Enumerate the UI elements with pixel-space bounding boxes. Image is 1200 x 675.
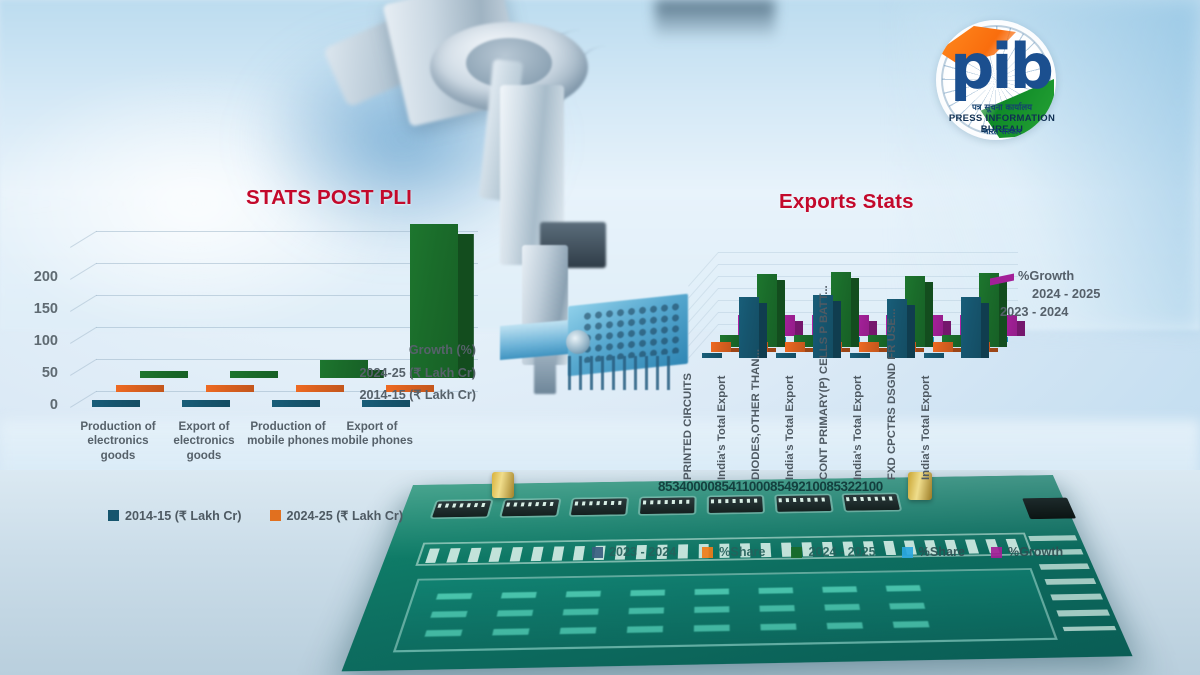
legend-label: %Share — [919, 545, 965, 559]
legend-swatch-growth-purple — [991, 547, 1002, 558]
hs-code: 85322100 — [826, 479, 882, 494]
y-axis-tick-label: 100 — [10, 333, 58, 349]
pib-government-line: भारत सरकार — [928, 126, 1076, 137]
left-chart-title: STATS POST PLI — [246, 186, 412, 210]
depth-axis-series-label: 2024 - 2025 — [1032, 286, 1100, 301]
bar--share-2 — [785, 348, 813, 353]
x-axis-category-label: India's Total Export — [852, 376, 864, 480]
depth-axis-series-label: 2014-15 (₹ Lakh Cr) — [340, 387, 476, 402]
x-axis-category-label: FXD CPCTRS DSGND FR USE... — [886, 308, 898, 480]
legend-label: %Growth — [1008, 545, 1063, 559]
legend-swatch-share-orange — [702, 547, 713, 558]
legend-item: %Share — [902, 545, 965, 559]
x-axis-category-label: Export of electronics goods — [162, 420, 246, 463]
depth-axis-series-label: %Growth — [1018, 268, 1074, 283]
y-axis-tick-label: 200 — [10, 269, 58, 285]
right-chart-title: Exports Stats — [779, 190, 914, 214]
legend-item: 2023 - 2024 — [592, 545, 676, 559]
legend-item: %Growth — [991, 545, 1063, 559]
hs-code: 85411000 — [714, 479, 770, 494]
hs-code: 85340000 — [658, 479, 714, 494]
legend-label: 2024-25 (₹ Lakh Cr) — [287, 508, 404, 523]
bar--share-0 — [711, 348, 739, 353]
y-axis-tick-label: 50 — [10, 365, 58, 381]
x-axis-category-label: Production of mobile phones — [246, 420, 330, 449]
x-axis-category-label: India's Total Export — [920, 376, 932, 480]
infographic-canvas: pib पत्र सूचना कार्यालय PRESS INFORMATIO… — [0, 0, 1200, 675]
pib-logo: pib पत्र सूचना कार्यालय PRESS INFORMATIO… — [928, 18, 1076, 143]
legend-label: 2024 - 2025 — [808, 545, 875, 559]
legend-label: 2014-15 (₹ Lakh Cr) — [125, 508, 242, 523]
bar--share-4 — [859, 348, 887, 353]
bar-2023-2024-7 — [961, 303, 989, 358]
depth-axis-series-label: Growth (%) — [340, 343, 476, 357]
x-axis-category-label: CONT PRIMARY(P) CELLS P BATT... — [818, 285, 830, 480]
legend-item: 2024-25 (₹ Lakh Cr) — [270, 508, 404, 523]
hs-code-row: 85340000854110008549210085322100 — [658, 479, 883, 494]
exports-stats-chart: PRINTED CIRCUITSIndia's Total ExportDIOD… — [660, 228, 1090, 558]
x-axis-category-label: India's Total Export — [784, 376, 796, 480]
depth-axis-series-label: 2023 - 2024 — [1000, 304, 1068, 319]
legend-swatch-2014-15 — [108, 510, 119, 521]
legend-label: %Share — [719, 545, 765, 559]
legend-swatch-share-blue — [902, 547, 913, 558]
legend-item: 2014-15 (₹ Lakh Cr) — [108, 508, 242, 523]
legend-swatch-2024-2025 — [791, 547, 802, 558]
x-axis-category-label: DIODES,OTHER THAN... — [750, 349, 762, 480]
x-axis-category-label: PRINTED CIRCUITS — [682, 373, 694, 480]
x-axis-category-label: Export of mobile phones — [330, 420, 414, 449]
legend-swatch-2023-2024 — [592, 547, 603, 558]
hs-code: 85492100 — [770, 479, 826, 494]
pib-wordmark: pib — [950, 36, 1062, 102]
legend-label: 2023 - 2024 — [609, 545, 676, 559]
x-axis-category-label: India's Total Export — [716, 376, 728, 480]
legend-item: 2024 - 2025 — [791, 545, 875, 559]
pib-hindi-line: पत्र सूचना कार्यालय — [928, 102, 1076, 113]
legend-item: %Share — [702, 545, 765, 559]
bar--share-6 — [933, 348, 961, 353]
y-axis-tick-label: 0 — [10, 397, 58, 413]
right-chart-legend: 2023 - 2024 %Share 2024 - 2025 %Share %G… — [592, 545, 1063, 559]
legend-swatch-2024-25 — [270, 510, 281, 521]
stats-post-pli-chart: 200150100500Production of electronics go… — [10, 225, 480, 525]
y-axis-tick-label: 150 — [10, 301, 58, 317]
depth-axis-series-label: 2024-25 (₹ Lakh Cr) — [340, 365, 476, 380]
x-axis-category-label: Production of electronics goods — [76, 420, 160, 463]
left-chart-legend: 2014-15 (₹ Lakh Cr) 2024-25 (₹ Lakh Cr) — [108, 508, 403, 523]
